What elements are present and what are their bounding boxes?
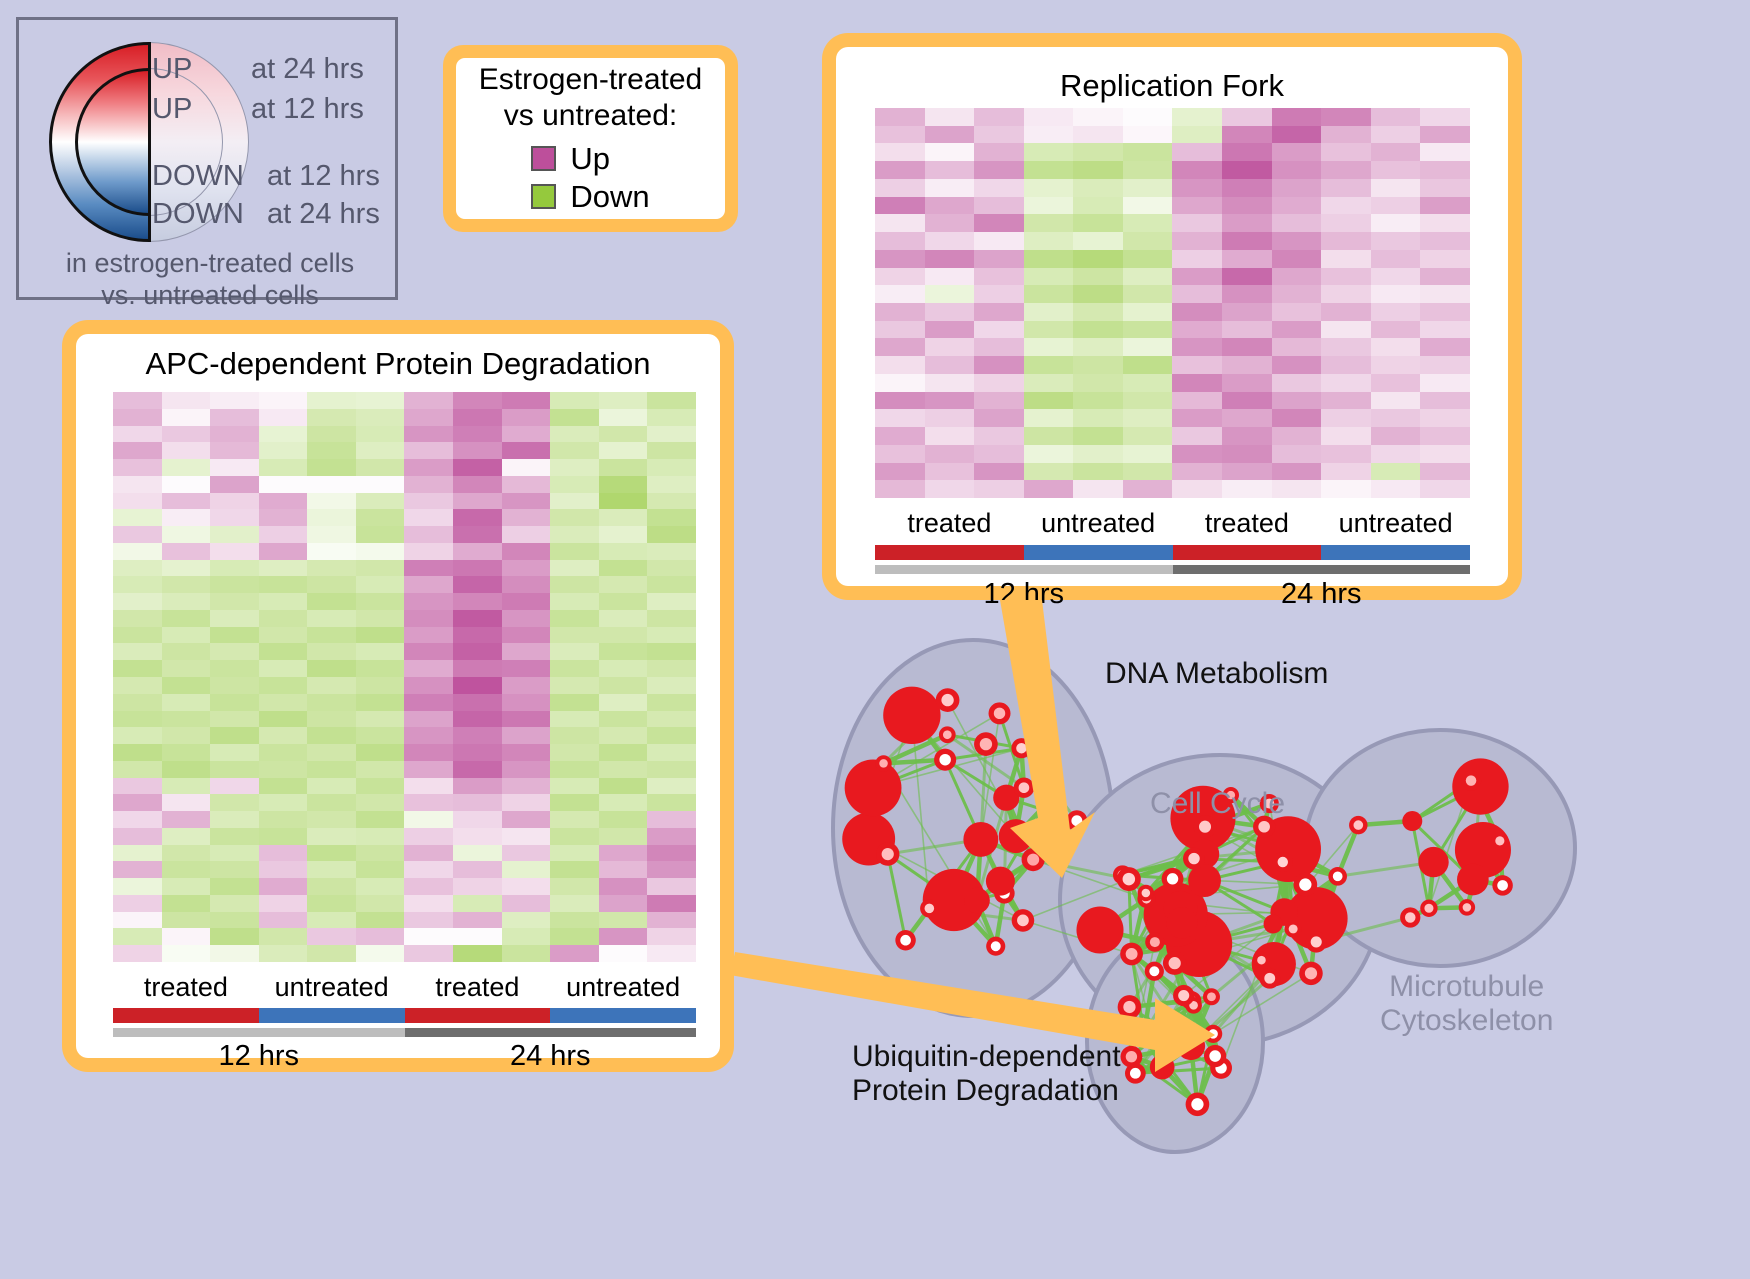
heatmap-cell xyxy=(356,778,405,795)
treatment-bar-segment xyxy=(875,545,1024,560)
heatmap-cell xyxy=(502,426,551,443)
heatmap-cell xyxy=(1073,232,1123,250)
heatmap-cell xyxy=(307,493,356,510)
network-node[interactable] xyxy=(1400,907,1420,927)
heatmap-cell xyxy=(453,493,502,510)
node-disc xyxy=(1177,1032,1205,1060)
heatmap-cell xyxy=(925,126,975,144)
heatmap-cell xyxy=(1321,321,1371,339)
heatmap-cell xyxy=(1024,108,1074,126)
network-node[interactable] xyxy=(1118,995,1142,1019)
network-node[interactable] xyxy=(1461,770,1481,790)
heatmap-cell xyxy=(599,610,648,627)
heatmap-cell xyxy=(1321,409,1371,427)
heatmap-cell xyxy=(550,694,599,711)
heatmap-cell xyxy=(974,108,1024,126)
heatmap-cell xyxy=(1420,143,1470,161)
network-node[interactable] xyxy=(1066,810,1087,831)
heatmap-cell xyxy=(1073,374,1123,392)
heatmap-cell xyxy=(1321,232,1371,250)
heatmap-cell xyxy=(113,660,162,677)
heatmap-cell xyxy=(1371,143,1421,161)
heatmap-cell xyxy=(356,895,405,912)
heatmap-cell xyxy=(1321,161,1371,179)
network-node[interactable] xyxy=(1491,832,1509,850)
heatmap-cell xyxy=(925,480,975,498)
heatmap-cell xyxy=(453,476,502,493)
network-node[interactable] xyxy=(1173,985,1194,1006)
network-node[interactable] xyxy=(1418,847,1448,877)
heatmap-cell xyxy=(550,560,599,577)
heatmap-cell xyxy=(259,744,308,761)
heatmap-cell xyxy=(1024,285,1074,303)
heatmap-cell xyxy=(599,526,648,543)
heatmap-cell xyxy=(404,643,453,660)
panel-apc-title: APC-dependent Protein Degradation xyxy=(62,346,734,382)
heatmap-cell xyxy=(1371,303,1421,321)
heatmap-cell xyxy=(113,928,162,945)
heatmap-cell xyxy=(1172,214,1222,232)
heatmap-cell xyxy=(1222,108,1272,126)
heatmap-cell xyxy=(502,560,551,577)
heatmap-cell xyxy=(453,845,502,862)
node-core xyxy=(980,738,992,750)
heatmap-cell xyxy=(307,845,356,862)
heatmap-cell xyxy=(162,409,211,426)
heatmap-cell xyxy=(875,268,925,286)
network-node[interactable] xyxy=(1177,1032,1205,1060)
heatmap-cell xyxy=(1420,161,1470,179)
heatmap-cell xyxy=(113,744,162,761)
network-node[interactable] xyxy=(999,819,1033,853)
heatmap-cell xyxy=(307,526,356,543)
network-node[interactable] xyxy=(1166,907,1197,938)
network-node[interactable] xyxy=(1163,951,1186,974)
heatmap-cell xyxy=(1123,463,1173,481)
network-node[interactable] xyxy=(989,702,1011,724)
network-node[interactable] xyxy=(1273,852,1293,872)
heatmap-cell xyxy=(599,543,648,560)
heatmap-cell xyxy=(210,627,259,644)
heatmap-cell xyxy=(647,794,696,811)
heatmap-cell xyxy=(1073,161,1123,179)
heatmap-cell xyxy=(599,476,648,493)
network-node[interactable] xyxy=(1402,811,1422,831)
heatmap-cell xyxy=(404,442,453,459)
heatmap-cell xyxy=(502,526,551,543)
heatmap-cell xyxy=(259,426,308,443)
heatmap-cell xyxy=(307,945,356,962)
heatmap-cell xyxy=(502,761,551,778)
heatmap-cell xyxy=(1420,126,1470,144)
heatmap-cell xyxy=(599,694,648,711)
network-node[interactable] xyxy=(920,899,938,917)
heatmap-cell xyxy=(1172,285,1222,303)
heatmap-cell xyxy=(162,593,211,610)
heatmap-cell xyxy=(502,677,551,694)
heatmap-cell xyxy=(162,811,211,828)
heatmap-cell xyxy=(259,459,308,476)
heatmap-cell xyxy=(453,576,502,593)
heatmap-cell xyxy=(113,677,162,694)
network-node[interactable] xyxy=(1204,1025,1222,1043)
heatmap-cell xyxy=(974,232,1024,250)
heatmap-cell xyxy=(162,928,211,945)
heatmap-cell xyxy=(162,643,211,660)
network-node[interactable] xyxy=(1253,952,1269,968)
network-node[interactable] xyxy=(1264,915,1283,934)
heatmap-cell xyxy=(1272,374,1322,392)
heatmap-cell xyxy=(162,711,211,728)
heatmap-cell xyxy=(550,727,599,744)
node-core xyxy=(1191,1098,1203,1110)
network-node[interactable] xyxy=(974,732,998,756)
network-node[interactable] xyxy=(1022,848,1045,871)
heatmap-cell xyxy=(453,593,502,610)
heatmap-cell xyxy=(1371,338,1421,356)
heatmap-cell xyxy=(307,543,356,560)
heatmap-cell xyxy=(1222,427,1272,445)
node-core xyxy=(1305,967,1317,979)
heatmap-cell xyxy=(1024,214,1074,232)
network-node[interactable] xyxy=(1133,1023,1154,1044)
heatmap-cell xyxy=(550,828,599,845)
heatmap-cell xyxy=(259,576,308,593)
heatmap-cell xyxy=(875,303,925,321)
network-node[interactable] xyxy=(934,749,956,771)
heatmap-cell xyxy=(1073,321,1123,339)
heatmap-cell xyxy=(1123,108,1173,126)
network-node[interactable] xyxy=(876,842,899,865)
network-node[interactable] xyxy=(1145,932,1164,951)
heatmap-cell xyxy=(974,374,1024,392)
heatmap-cell xyxy=(502,392,551,409)
heatmap-cell xyxy=(550,643,599,660)
heatmap-cell xyxy=(1024,232,1074,250)
heatmap-cell xyxy=(356,560,405,577)
heatmap-cell xyxy=(307,442,356,459)
heatmap-cell xyxy=(259,476,308,493)
node-disc xyxy=(1264,915,1283,934)
heatmap-cell xyxy=(453,912,502,929)
heatmap-cell xyxy=(453,711,502,728)
heatmap-cell xyxy=(1024,250,1074,268)
heatmap-cell xyxy=(162,828,211,845)
network-node[interactable] xyxy=(1138,885,1154,901)
heatmap-cell xyxy=(647,761,696,778)
heatmap-cell xyxy=(210,744,259,761)
heatmap-cell xyxy=(307,928,356,945)
heatmap-cell xyxy=(647,694,696,711)
heatmap-cell xyxy=(1371,463,1421,481)
heatmap-cell xyxy=(647,526,696,543)
replication-treatment-colorbar xyxy=(875,545,1470,560)
network-node[interactable] xyxy=(1120,943,1143,966)
heatmap-cell xyxy=(1172,463,1222,481)
heatmap-cell xyxy=(210,677,259,694)
heatmap-cell xyxy=(1420,250,1470,268)
network-node[interactable] xyxy=(963,822,998,857)
heatmap-cell xyxy=(1123,285,1173,303)
heatmap-cell xyxy=(502,928,551,945)
heatmap-cell xyxy=(210,811,259,828)
time-bar-segment xyxy=(113,1028,405,1037)
network-node[interactable] xyxy=(1299,962,1323,986)
network-node[interactable] xyxy=(1204,1045,1226,1067)
heatmap-cell xyxy=(925,197,975,215)
network-node[interactable] xyxy=(1492,875,1512,895)
heatmap-cell xyxy=(1222,374,1272,392)
network-node[interactable] xyxy=(1162,868,1184,890)
network-node[interactable] xyxy=(1150,1055,1175,1080)
heatmap-cell xyxy=(550,627,599,644)
network-node[interactable] xyxy=(1459,899,1475,915)
key-time-down-24: at 24 hrs xyxy=(267,198,380,231)
heatmap-cell xyxy=(1073,409,1123,427)
heatmap-cell xyxy=(550,392,599,409)
legend-title: Estrogen-treated vs untreated: xyxy=(479,62,702,133)
heatmap-cell xyxy=(162,560,211,577)
color-key-caption: in estrogen-treated cells vs. untreated … xyxy=(19,248,401,312)
heatmap-cell xyxy=(599,677,648,694)
heatmap-cell xyxy=(307,711,356,728)
network-node[interactable] xyxy=(845,759,902,816)
heatmap-cell xyxy=(307,811,356,828)
heatmap-cell xyxy=(113,610,162,627)
heatmap-cell xyxy=(113,426,162,443)
color-key-box: UP at 24 hrs UP at 12 hrs DOWN at 12 hrs… xyxy=(16,17,398,300)
heatmap-cell xyxy=(113,409,162,426)
node-core xyxy=(900,935,911,946)
heatmap-cell xyxy=(1172,108,1222,126)
heatmap-cell xyxy=(647,392,696,409)
heatmap-cell xyxy=(453,643,502,660)
heatmap-cell xyxy=(502,778,551,795)
heatmap-cell xyxy=(925,285,975,303)
node-core xyxy=(1138,1028,1149,1039)
heatmap-cell xyxy=(1321,480,1371,498)
heatmap-cell xyxy=(307,459,356,476)
network-node[interactable] xyxy=(986,867,1015,896)
heatmap-cell xyxy=(974,392,1024,410)
heatmap-cell xyxy=(1371,427,1421,445)
heatmap-cell xyxy=(1420,374,1470,392)
network-node[interactable] xyxy=(1306,931,1327,952)
network-node[interactable] xyxy=(1145,962,1164,981)
heatmap-cell xyxy=(356,627,405,644)
heatmap-cell xyxy=(599,493,648,510)
caption-line-2: vs. untreated cells xyxy=(19,280,401,312)
heatmap-cell xyxy=(925,161,975,179)
heatmap-cell xyxy=(875,480,925,498)
heatmap-cell xyxy=(259,593,308,610)
network-node[interactable] xyxy=(1014,777,1034,797)
heatmap-cell xyxy=(550,794,599,811)
network-node[interactable] xyxy=(1012,909,1035,932)
heatmap-cell xyxy=(210,610,259,627)
heatmap-cell xyxy=(925,232,975,250)
heatmap-cell xyxy=(1420,285,1470,303)
heatmap-cell xyxy=(502,711,551,728)
heatmap-cell xyxy=(453,610,502,627)
network-node[interactable] xyxy=(1203,988,1220,1005)
heatmap-cell xyxy=(1172,161,1222,179)
network-node[interactable] xyxy=(1183,848,1205,870)
heatmap-cell xyxy=(502,811,551,828)
network-node[interactable] xyxy=(1037,795,1055,813)
heatmap-cell xyxy=(1073,250,1123,268)
heatmap-cell xyxy=(1222,463,1272,481)
network-node[interactable] xyxy=(1259,968,1280,989)
heatmap-cell xyxy=(647,409,696,426)
heatmap-cell xyxy=(210,426,259,443)
heatmap-cell xyxy=(356,660,405,677)
sample-group-label: treated xyxy=(113,972,259,1003)
heatmap-cell xyxy=(1222,197,1272,215)
heatmap-cell xyxy=(502,627,551,644)
heatmap-cell xyxy=(1073,427,1123,445)
network-node[interactable] xyxy=(1452,758,1508,814)
heatmap-cell xyxy=(259,861,308,878)
heatmap-cell xyxy=(1024,268,1074,286)
heatmap-cell xyxy=(210,493,259,510)
heatmap-cell xyxy=(1123,179,1173,197)
network-node[interactable] xyxy=(883,687,940,744)
heatmap-cell xyxy=(1123,214,1173,232)
sample-group-label: treated xyxy=(405,972,551,1003)
heatmap-cell xyxy=(1123,232,1173,250)
heatmap-cell xyxy=(1420,356,1470,374)
node-core xyxy=(1207,992,1216,1001)
network-node[interactable] xyxy=(1076,906,1123,953)
node-core xyxy=(1466,775,1477,786)
heatmap-cell xyxy=(925,179,975,197)
network-node[interactable] xyxy=(939,726,956,743)
heatmap-cell xyxy=(599,426,648,443)
heatmap-cell xyxy=(1172,356,1222,374)
heatmap-cell xyxy=(502,409,551,426)
heatmap-cell xyxy=(210,576,259,593)
heatmap-cell xyxy=(1024,480,1074,498)
network-node[interactable] xyxy=(1457,864,1489,896)
heatmap-cell xyxy=(925,143,975,161)
network-node[interactable] xyxy=(1186,1092,1210,1116)
heatmap-cell xyxy=(502,845,551,862)
heatmap-cell xyxy=(210,694,259,711)
heatmap-cell xyxy=(453,627,502,644)
heatmap-cell xyxy=(502,660,551,677)
heatmap-cell xyxy=(1073,197,1123,215)
network-node[interactable] xyxy=(986,937,1005,956)
heatmap-cell xyxy=(404,509,453,526)
heatmap-cell xyxy=(404,895,453,912)
heatmap-cell xyxy=(647,945,696,962)
heatmap-cell xyxy=(162,426,211,443)
apc-time-colorbar xyxy=(113,1028,696,1037)
heatmap-cell xyxy=(404,627,453,644)
heatmap-cell xyxy=(599,459,648,476)
heatmap-cell xyxy=(1222,409,1272,427)
key-dir-up-12: UP xyxy=(152,93,192,126)
heatmap-cell xyxy=(453,677,502,694)
node-core xyxy=(941,694,953,706)
node-core xyxy=(1130,1068,1141,1079)
heatmap-cell xyxy=(162,493,211,510)
heatmap-cell xyxy=(599,576,648,593)
heatmap-cell xyxy=(113,945,162,962)
network-node[interactable] xyxy=(895,930,915,950)
network-node[interactable] xyxy=(1121,1046,1143,1068)
network-node[interactable] xyxy=(964,888,990,914)
heatmap-cell xyxy=(1222,179,1272,197)
network-node[interactable] xyxy=(1349,816,1367,834)
heatmap-cell xyxy=(974,303,1024,321)
heatmap-cell xyxy=(210,409,259,426)
heatmap-cell xyxy=(356,677,405,694)
heatmap-cell xyxy=(502,945,551,962)
heatmap-cell xyxy=(259,828,308,845)
heatmap-cell xyxy=(404,694,453,711)
apc-sample-labels: treateduntreatedtreateduntreated xyxy=(113,972,696,1003)
node-core xyxy=(1169,957,1181,969)
heatmap-cell xyxy=(1321,214,1371,232)
heatmap-cell xyxy=(550,845,599,862)
heatmap-cell xyxy=(162,744,211,761)
heatmap-cell xyxy=(875,250,925,268)
heatmap-cell xyxy=(1073,214,1123,232)
heatmap-cell xyxy=(356,643,405,660)
heatmap-cell xyxy=(1420,409,1470,427)
heatmap-cell xyxy=(162,727,211,744)
network-node[interactable] xyxy=(1420,900,1437,917)
network-node[interactable] xyxy=(1117,867,1141,891)
heatmap-cell xyxy=(113,828,162,845)
heatmap-cell xyxy=(599,509,648,526)
heatmap-cell xyxy=(1123,250,1173,268)
heatmap-cell xyxy=(1371,108,1421,126)
node-core xyxy=(1289,924,1298,933)
heatmap-cell xyxy=(1123,392,1173,410)
network-node[interactable] xyxy=(1285,920,1302,937)
heatmap-cell xyxy=(1172,268,1222,286)
network-node[interactable] xyxy=(936,688,960,712)
network-node[interactable] xyxy=(1011,738,1031,758)
node-core xyxy=(1126,1051,1137,1062)
heatmap-cell xyxy=(502,694,551,711)
heatmap-cell xyxy=(453,945,502,962)
heatmap-cell xyxy=(599,593,648,610)
heatmap-cell xyxy=(210,828,259,845)
network-node[interactable] xyxy=(1293,873,1317,897)
heatmap-cell xyxy=(307,627,356,644)
heatmap-cell xyxy=(404,861,453,878)
heatmap-cell xyxy=(210,845,259,862)
heatmap-cell xyxy=(502,794,551,811)
node-core xyxy=(943,730,952,739)
node-disc xyxy=(1452,758,1508,814)
heatmap-cell xyxy=(1172,232,1222,250)
heatmap-cell xyxy=(404,845,453,862)
heatmap-cell xyxy=(356,694,405,711)
heatmap-cell xyxy=(599,560,648,577)
heatmap-cell xyxy=(974,321,1024,339)
node-core xyxy=(1019,782,1030,793)
network-node[interactable] xyxy=(1328,867,1347,886)
heatmap-cell xyxy=(1272,268,1322,286)
key-dir-down-24: DOWN xyxy=(152,198,244,231)
network-node[interactable] xyxy=(875,755,891,771)
heatmap-cell xyxy=(404,576,453,593)
